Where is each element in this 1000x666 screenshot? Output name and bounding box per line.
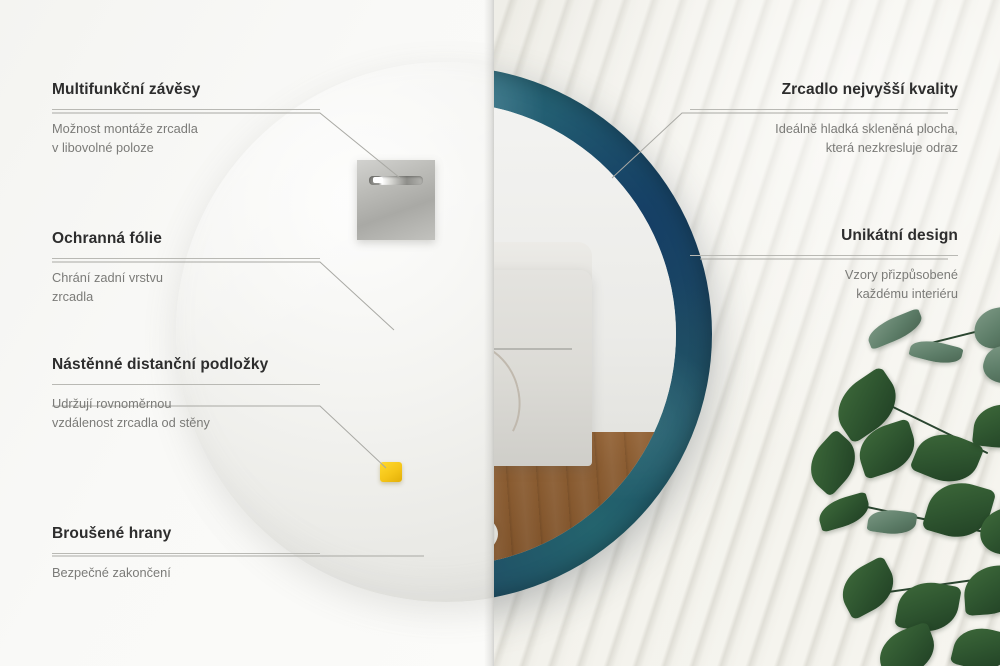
callout-rule xyxy=(52,384,320,385)
callout-polished-edges: Broušené hrany Bezpečné zakončení xyxy=(52,524,320,582)
callout-rule xyxy=(690,109,958,110)
callout-rule xyxy=(52,553,320,554)
plant-leaf xyxy=(962,564,1000,616)
hanger-slot-icon xyxy=(369,176,423,185)
hanger-plate xyxy=(357,160,435,240)
plant-leaf xyxy=(972,401,1000,451)
infographic-stage: Multifunkční závěsy Možnost montáže zrca… xyxy=(0,0,1000,666)
plant-leaf xyxy=(867,507,918,537)
spacer-pad xyxy=(380,462,402,482)
callout-title: Ochranná fólie xyxy=(52,229,320,249)
callout-multifunctional-hangers: Multifunkční závěsy Možnost montáže zrca… xyxy=(52,80,320,158)
mirror-glass xyxy=(494,102,676,566)
plant-leaf xyxy=(833,555,903,620)
callout-title: Multifunkční závěsy xyxy=(52,80,320,100)
callout-description: Chrání zadní vrstvuzrcadla xyxy=(52,268,320,307)
panel-divider-shadow xyxy=(484,0,494,666)
callout-wall-spacers: Nástěnné distanční podložky Udržují rovn… xyxy=(52,355,320,433)
callout-description: Udržují rovnoměrnouvzdálenost zrcadla od… xyxy=(52,394,320,433)
reflection-sofa-seam xyxy=(494,348,572,350)
callout-top-quality-mirror: Zrcadlo nejvyšší kvality Ideálně hladká … xyxy=(690,80,958,158)
plant-leaf xyxy=(815,491,873,532)
callout-description: Bezpečné zakončení xyxy=(52,563,320,582)
plant-leaf xyxy=(950,622,1000,666)
callout-rule xyxy=(52,109,320,110)
callout-description: Vzory přizpůsobenékaždému interiéru xyxy=(690,265,958,304)
callout-title: Nástěnné distanční podložky xyxy=(52,355,320,375)
callout-title: Unikátní design xyxy=(690,226,958,246)
callout-title: Broušené hrany xyxy=(52,524,320,544)
callout-unique-design: Unikátní design Vzory přizpůsobenékaždém… xyxy=(690,226,958,304)
callout-rule xyxy=(52,258,320,259)
callout-description: Ideálně hladká skleněná plocha,která nez… xyxy=(690,119,958,158)
callout-protective-film: Ochranná fólie Chrání zadní vrstvuzrcadl… xyxy=(52,229,320,307)
callout-rule xyxy=(690,255,958,256)
callout-title: Zrcadlo nejvyšší kvality xyxy=(690,80,958,100)
decorative-plant xyxy=(824,330,1000,666)
callout-description: Možnost montáže zrcadlav libovolné poloz… xyxy=(52,119,320,158)
